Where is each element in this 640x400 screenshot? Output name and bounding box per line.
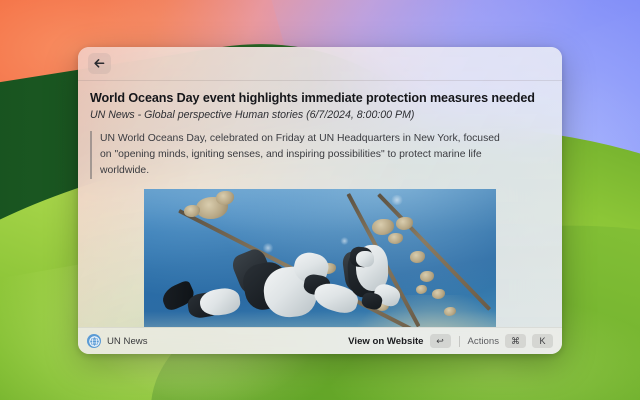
globe-glyph	[89, 336, 100, 347]
article-hero-image	[144, 189, 496, 327]
article-summary: UN World Oceans Day, celebrated on Frida…	[90, 131, 500, 179]
view-on-website-button[interactable]: View on Website	[348, 336, 423, 347]
arrow-left-icon	[94, 59, 105, 68]
return-key-badge[interactable]: ↩	[430, 334, 451, 348]
command-key-badge[interactable]: ⌘	[505, 334, 526, 348]
panel-header	[78, 47, 562, 81]
article-source: UN News - Global perspective Human stori…	[90, 108, 550, 122]
bubble	[262, 243, 274, 253]
footer-divider	[459, 336, 460, 347]
desktop-wallpaper: World Oceans Day event highlights immedi…	[0, 0, 640, 400]
bubble	[340, 237, 349, 245]
un-globe-icon	[87, 334, 101, 348]
back-button[interactable]	[88, 53, 111, 74]
bubble	[390, 195, 404, 205]
panel-footer: UN News View on Website ↩ Actions ⌘ K	[78, 327, 562, 354]
article-title: World Oceans Day event highlights immedi…	[90, 91, 550, 106]
footer-source-name: UN News	[107, 336, 148, 347]
article-preview-panel: World Oceans Day event highlights immedi…	[78, 47, 562, 354]
panel-body: World Oceans Day event highlights immedi…	[78, 81, 562, 327]
k-key-badge[interactable]: K	[532, 334, 553, 348]
actions-button[interactable]: Actions	[468, 336, 499, 347]
footer-source: UN News	[87, 334, 148, 348]
footer-actions: View on Website ↩ Actions ⌘ K	[348, 334, 553, 348]
